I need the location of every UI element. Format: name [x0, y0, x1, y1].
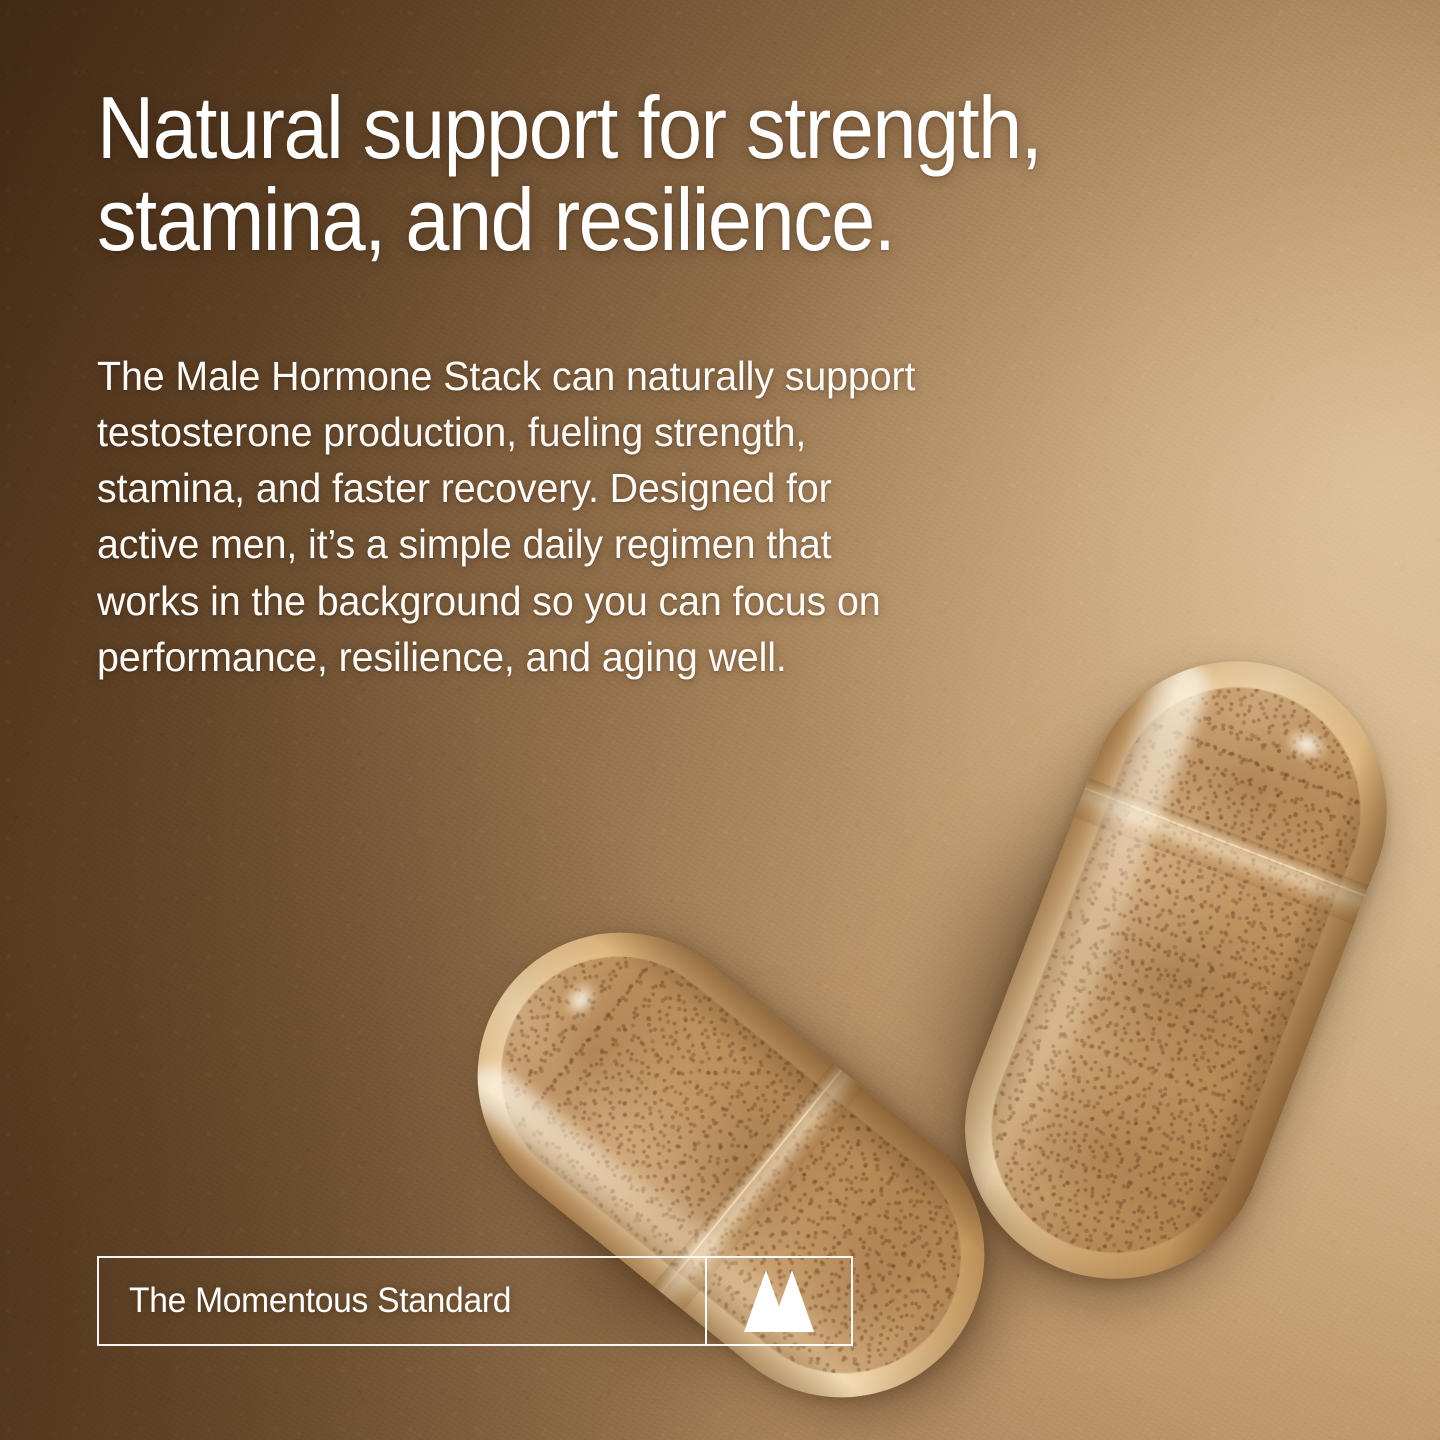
- badge-logo-container: [707, 1258, 851, 1344]
- body-paragraph: The Male Hormone Stack can naturally sup…: [97, 348, 1095, 685]
- momentous-standard-badge: The Momentous Standard: [97, 1256, 853, 1346]
- badge-label-container: The Momentous Standard: [99, 1258, 705, 1344]
- momentous-mountain-logo-icon: [736, 1270, 822, 1332]
- page-title: Natural support for strength, stamina, a…: [97, 82, 1231, 265]
- promo-image-canvas: Natural support for strength, stamina, a…: [0, 0, 1440, 1440]
- badge-label: The Momentous Standard: [129, 1281, 511, 1321]
